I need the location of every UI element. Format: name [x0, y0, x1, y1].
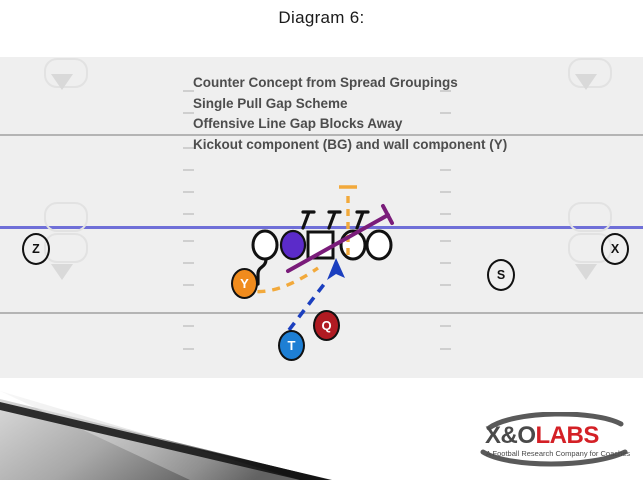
- logo-wordmark: X&OLABS: [485, 424, 631, 448]
- offensive-lineman-left-tackle: [253, 231, 277, 259]
- logo-brand-primary: X&O: [485, 422, 536, 449]
- player-chip-t[interactable]: T: [278, 330, 305, 361]
- logo-tagline: A Football Research Company for Coaches: [483, 449, 633, 458]
- defender-gamma-icon: [303, 212, 314, 228]
- player-chip-q[interactable]: Q: [313, 310, 340, 341]
- route-tackle-down-block: [258, 259, 266, 284]
- decorative-wedge: [0, 385, 400, 480]
- player-chip-s[interactable]: S: [487, 259, 515, 291]
- logo-brand-secondary: LABS: [536, 422, 599, 449]
- slide-canvas: Diagram 6: Counter Concept from Spread G…: [0, 0, 643, 480]
- player-chip-z[interactable]: Z: [22, 233, 50, 265]
- player-chip-x[interactable]: X: [601, 233, 629, 265]
- offensive-lineman-pulling-guard: [281, 231, 305, 259]
- brand-logo: X&OLABS A Football Research Company for …: [475, 412, 631, 468]
- route-guard-pull-block-cap: [383, 206, 392, 223]
- player-chip-y[interactable]: Y: [231, 268, 258, 299]
- defender-gamma-icon: [329, 212, 340, 228]
- offensive-lineman-right-tackle: [367, 231, 391, 259]
- route-tailback-arrowhead-icon: [327, 258, 345, 280]
